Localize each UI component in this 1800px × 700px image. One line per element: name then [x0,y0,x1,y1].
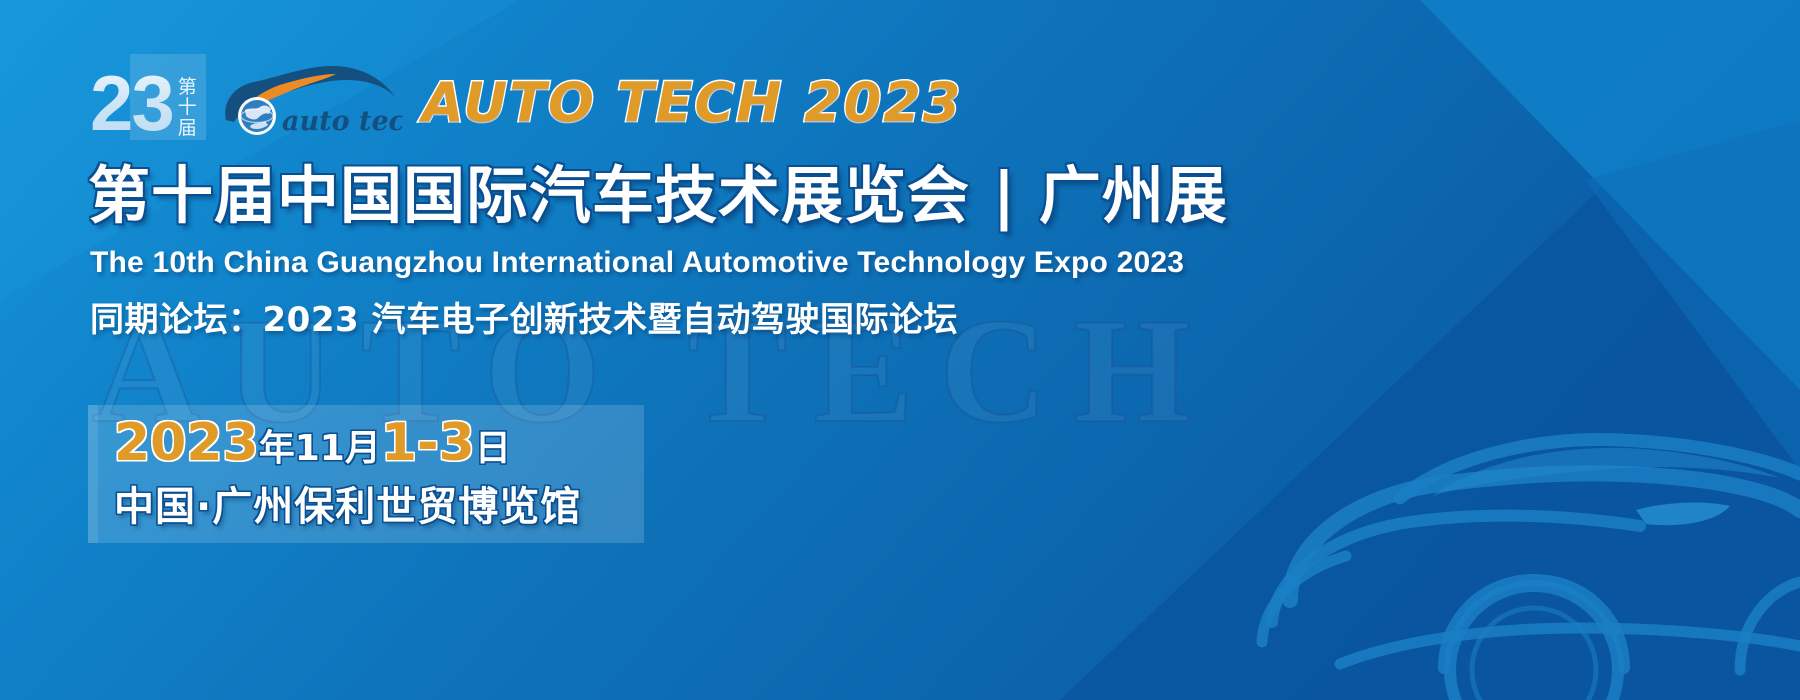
date-month-unit: 月 [345,428,381,469]
edition-chinese-label: 第 十 届 [178,77,197,138]
date-day-unit: 日 [475,428,511,469]
date-venue-panel: 2023年11月1-3日 中国·广州保利世贸博览馆 [88,405,644,543]
event-banner: AUTO TECH 23 第 十 届 [0,0,1800,700]
edition-char-1: 第 [178,77,197,97]
date-days: 1-3 [381,413,475,473]
edition-char-2: 十 [178,97,197,117]
forum-line: 同期论坛：2023 汽车电子创新技术暨自动驾驶国际论坛 [90,292,958,341]
edition-mark: 23 第 十 届 [88,48,206,140]
edition-number: 23 [90,68,173,140]
date-year-unit: 年 [259,428,295,469]
subtitle-english: The 10th China Guangzhou International A… [90,246,1184,280]
event-date: 2023年11月1-3日 [114,416,644,471]
logo-row: 23 第 十 届 [88,48,962,140]
page-title: 第十届中国国际汽车技术展览会 | 广州展 [88,162,1228,230]
wordmark: AUTO TECH 2023 [422,71,962,134]
auto-tech-emblem: auto tech [220,58,402,142]
emblem-text: auto tech [282,106,402,137]
globe-icon [238,97,276,135]
edition-char-3: 届 [178,118,197,138]
date-year: 2023 [114,413,259,473]
date-month: 11 [295,428,345,469]
event-venue: 中国·广州保利世贸博览馆 [114,474,644,532]
